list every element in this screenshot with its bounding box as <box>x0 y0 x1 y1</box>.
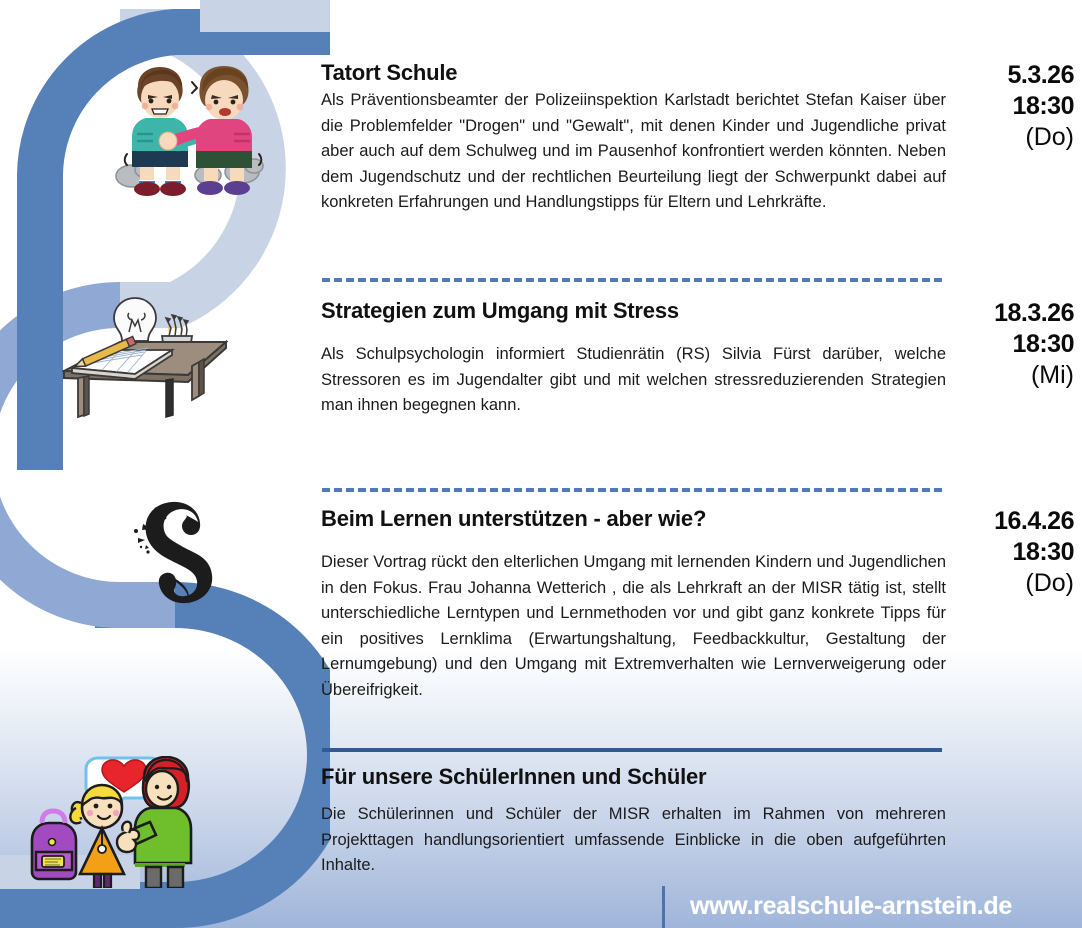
footer-divider <box>662 886 665 928</box>
section-title: Für unsere SchülerInnen und Schüler <box>321 764 946 790</box>
section-title: Tatort Schule <box>321 60 946 86</box>
poster-root: Tatort Schule Als Präventionsbeamter der… <box>0 0 1082 928</box>
event-weekday: (Do) <box>946 568 1074 599</box>
section-strategien-stress: Strategien zum Umgang mit Stress Als Sch… <box>321 298 1082 419</box>
section-tatort-schule: Tatort Schule Als Präventionsbeamter der… <box>321 60 1082 216</box>
section-description: Als Präventionsbeamter der Polizeiinspek… <box>321 88 946 216</box>
event-weekday: (Do) <box>946 122 1074 153</box>
website-url[interactable]: www.realschule-arnstein.de <box>690 892 1012 921</box>
divider-dashed-1 <box>322 278 942 282</box>
section-body: Strategien zum Umgang mit Stress Als Sch… <box>321 298 946 419</box>
event-time: 18:30 <box>946 91 1074 122</box>
section-description: Dieser Vortrag rückt den elterlichen Umg… <box>321 550 946 703</box>
event-weekday: (Mi) <box>946 360 1074 391</box>
section-title: Strategien zum Umgang mit Stress <box>321 298 946 324</box>
paragraph-symbol-illustration <box>120 500 240 650</box>
section-date-block: 5.3.26 18:30 (Do) <box>946 60 1082 153</box>
section-body: Für unsere SchülerInnen und Schüler Die … <box>321 764 946 879</box>
event-time: 18:30 <box>946 537 1074 568</box>
section-description: Die Schülerinnen und Schüler der MISR er… <box>321 802 946 879</box>
divider-dashed-2 <box>322 488 942 492</box>
event-date: 16.4.26 <box>946 506 1074 537</box>
divider-solid-1 <box>322 748 942 752</box>
event-time: 18:30 <box>946 329 1074 360</box>
section-date-block: 18.3.26 18:30 (Mi) <box>946 298 1082 391</box>
section-description: Als Schulpsychologin informiert Studienr… <box>321 342 946 419</box>
section-fuer-unsere-schuelerinnen: Für unsere SchülerInnen und Schüler Die … <box>321 764 1082 879</box>
section-beim-lernen-unterstuetzen: Beim Lernen unterstützen - aber wie? Die… <box>321 506 1082 703</box>
event-date: 18.3.26 <box>946 298 1074 329</box>
content-column: Tatort Schule Als Präventionsbeamter der… <box>321 0 1082 928</box>
section-body: Tatort Schule Als Präventionsbeamter der… <box>321 60 946 216</box>
two-children-fighting-illustration <box>104 62 280 198</box>
section-date-block: 16.4.26 18:30 (Do) <box>946 506 1082 599</box>
desk-lightbulb-pencils-illustration <box>62 292 228 422</box>
teacher-student-thumbsup-illustration <box>28 756 208 888</box>
event-date: 5.3.26 <box>946 60 1074 91</box>
footer-bar: www.realschule-arnstein.de <box>0 884 1082 928</box>
section-body: Beim Lernen unterstützen - aber wie? Die… <box>321 506 946 703</box>
section-title: Beim Lernen unterstützen - aber wie? <box>321 506 946 532</box>
